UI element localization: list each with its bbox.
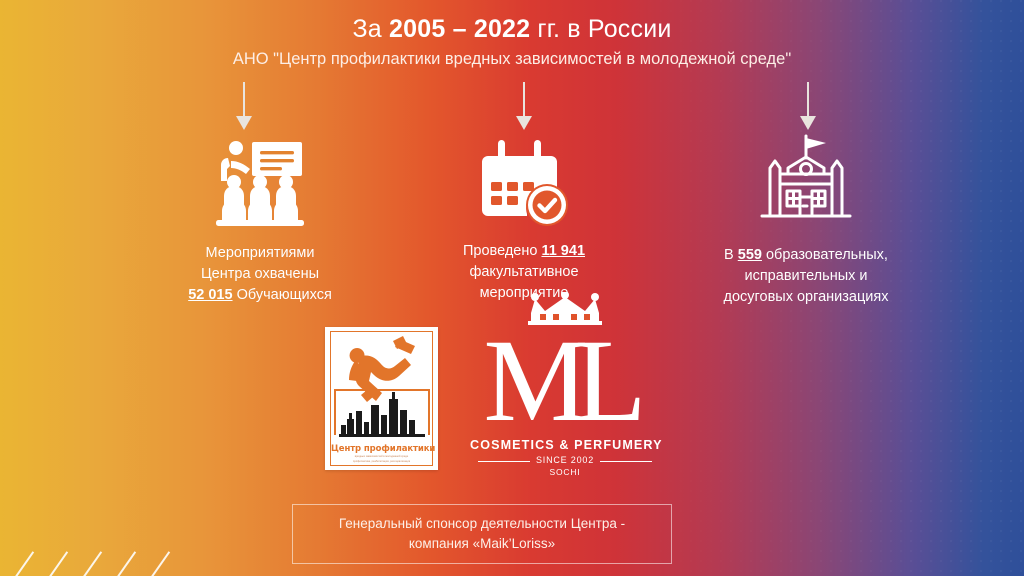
orgs-line1-prefix: В: [724, 247, 738, 263]
classroom-lecture-icon: [128, 136, 392, 233]
logo-card-name: Центр профилактики: [331, 445, 432, 454]
slash-3: [82, 551, 102, 576]
sponsor-line1: Генеральный спонсор деятельности Центра …: [339, 516, 625, 531]
slash-5: [150, 551, 170, 576]
sponsor-caption-text: Генеральный спонсор деятельности Центра …: [339, 514, 625, 555]
slide-canvas: За 2005 – 2022 гг. в России АНО "Центр п…: [0, 0, 1024, 576]
slash-2: [48, 551, 68, 576]
sponsor-caption-box: Генеральный спонсор деятельности Центра …: [292, 504, 672, 564]
maik-loriss-logo: ML COSMETICS & PERFUMERY SINCE 2002 SOCH…: [470, 292, 660, 468]
ml-monogram: ML: [470, 327, 660, 436]
title-years: 2005 – 2022: [389, 15, 530, 43]
stat-column-participants: Мероприятиями Центра охвачены 52 015 Обу…: [128, 136, 392, 306]
slash-1: [14, 551, 34, 576]
down-arrow-icon: [796, 82, 820, 134]
stat-text-participants: Мероприятиями Центра охвачены 52 015 Обу…: [128, 243, 392, 306]
arrow-head: [236, 116, 252, 130]
page-title: За 2005 – 2022 гг. в России: [0, 15, 1024, 44]
center-profilaktiki-logo: Центр профилактики вредных зависимостей …: [325, 327, 438, 470]
events-line2: факультативное: [469, 264, 578, 280]
page-subtitle: АНО "Центр профилактики вредных зависимо…: [0, 50, 1024, 69]
participants-line1: Мероприятиями: [206, 245, 315, 261]
city-skyline-icon: [333, 387, 431, 444]
title-prefix: За: [352, 15, 389, 43]
corner-slashes-decoration: [0, 528, 190, 576]
school-building-icon: [672, 128, 940, 233]
ml-tagline: COSMETICS & PERFUMERY: [470, 438, 660, 452]
orgs-stat: 559: [738, 247, 762, 263]
sponsor-line2: компания «Maik’Loriss»: [409, 536, 555, 551]
down-arrow-icon: [232, 82, 256, 134]
down-arrow-icon: [512, 82, 536, 134]
arrow-shaft: [807, 82, 809, 118]
logo-card-subline1: вредных зависимостей в молодежной среде: [331, 455, 432, 459]
logo-card-brandbar: Центр профилактики вредных зависимостей …: [331, 445, 432, 464]
ml-since-row: SINCE 2002: [470, 455, 660, 471]
participants-stat: 52 015: [188, 287, 232, 303]
orgs-line1-suffix: образовательных,: [762, 247, 888, 263]
calendar-check-icon: [406, 134, 642, 233]
slash-4: [116, 551, 136, 576]
arrow-shaft: [243, 82, 245, 118]
stat-text-organizations: В 559 образовательных, исправительных и …: [672, 245, 940, 308]
participants-line3: Обучающихся: [233, 287, 332, 303]
stat-column-events: Проведено 11 941 факультативное мероприя…: [406, 134, 642, 304]
orgs-line2: исправительных и: [744, 268, 867, 284]
arrow-shaft: [523, 82, 525, 118]
stat-column-organizations: В 559 образовательных, исправительных и …: [672, 128, 940, 308]
events-stat: 11 941: [541, 243, 585, 259]
orgs-line3: досуговых организациях: [724, 289, 889, 305]
ml-since: SINCE 2002: [470, 455, 660, 466]
logo-card-subline2: профилактика, реабилитация, ресоциализац…: [331, 460, 432, 464]
title-suffix: гг. в России: [530, 15, 671, 43]
events-line1-prefix: Проведено: [463, 243, 541, 259]
arrow-head: [516, 116, 532, 130]
participants-line2: Центра охвачены: [201, 266, 319, 282]
